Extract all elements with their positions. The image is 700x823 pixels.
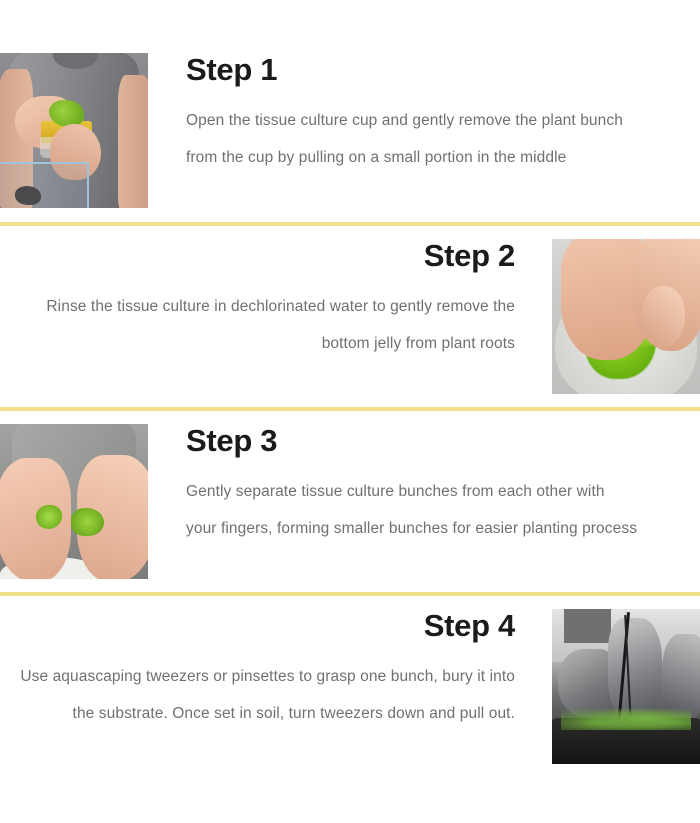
instructional-steps-page: Step 1 Open the tissue culture cup and g… xyxy=(0,0,700,823)
step-1-body: Open the tissue culture cup and gently r… xyxy=(186,102,638,176)
step-row-4: Step 4 Use aquascaping tweezers or pinse… xyxy=(0,596,700,781)
step-2-image xyxy=(552,239,700,394)
step-4-title: Step 4 xyxy=(0,606,515,646)
step-3-body: Gently separate tissue culture bunches f… xyxy=(186,473,638,547)
step-2-title: Step 2 xyxy=(0,236,515,276)
step-4-text-block: Step 4 Use aquascaping tweezers or pinse… xyxy=(0,596,515,732)
step-3-title: Step 3 xyxy=(186,421,638,461)
step-4-body: Use aquascaping tweezers or pinsettes to… xyxy=(0,658,515,732)
step-row-3: Step 3 Gently separate tissue culture bu… xyxy=(0,411,700,596)
step-1-text-block: Step 1 Open the tissue culture cup and g… xyxy=(186,40,638,176)
step-2-text-block: Step 2 Rinse the tissue culture in dechl… xyxy=(0,226,515,362)
step-row-2: Step 2 Rinse the tissue culture in dechl… xyxy=(0,226,700,411)
step-2-body: Rinse the tissue culture in dechlorinate… xyxy=(0,288,515,362)
step-4-image xyxy=(552,609,700,764)
step-row-1: Step 1 Open the tissue culture cup and g… xyxy=(0,40,700,225)
step-1-title: Step 1 xyxy=(186,50,638,90)
step-3-image xyxy=(0,424,148,579)
step-3-text-block: Step 3 Gently separate tissue culture bu… xyxy=(186,411,638,547)
step-1-image xyxy=(0,53,148,208)
